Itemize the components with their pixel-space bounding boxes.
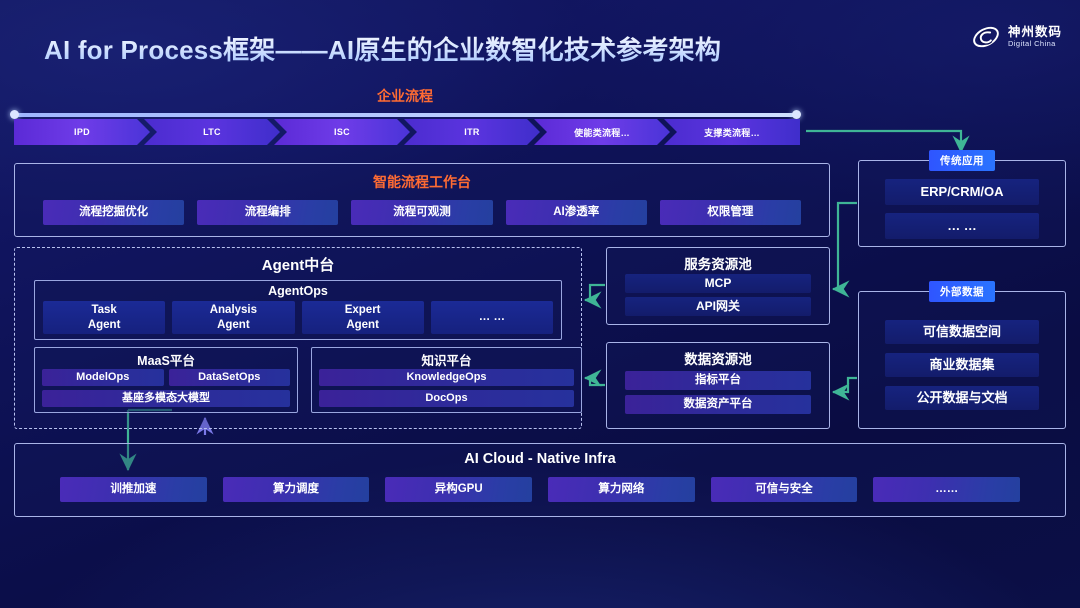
data-pool-item[interactable]: 数据资产平台 [625, 395, 811, 414]
maas-item[interactable]: 基座多模态大模型 [42, 390, 290, 407]
process-stage[interactable]: ISC [274, 119, 410, 145]
infra-item[interactable]: 可信与安全 [711, 477, 858, 502]
external-data-item[interactable]: 公开数据与文档 [885, 386, 1039, 410]
data-resource-pool-panel: 数据资源池 指标平台 数据资产平台 [606, 342, 830, 429]
maas-row-1: ModelOps DataSetOps [42, 369, 290, 386]
infra-title: AI Cloud - Native Infra [15, 451, 1065, 467]
maas-platform-panel: MaaS平台 ModelOps DataSetOps 基座多模态大模型 [34, 347, 298, 413]
external-data-item[interactable]: 可信数据空间 [885, 320, 1039, 344]
workbench-item[interactable]: 流程挖掘优化 [43, 200, 184, 225]
maas-title: MaaS平台 [35, 350, 297, 369]
external-data-item[interactable]: 商业数据集 [885, 353, 1039, 377]
workbench-item[interactable]: 流程编排 [197, 200, 338, 225]
process-stage[interactable]: 使能类流程… [534, 119, 670, 145]
maas-item[interactable]: DataSetOps [169, 369, 291, 386]
infra-item[interactable]: 异构GPU [385, 477, 532, 502]
agentops-item[interactable]: … … [431, 301, 553, 334]
maas-item[interactable]: ModelOps [42, 369, 164, 386]
workbench-item-row: 流程挖掘优化 流程编排 流程可观测 AI渗透率 权限管理 [43, 200, 801, 225]
logo-text-en: Digital China [1008, 40, 1062, 48]
data-pool-list: 指标平台 数据资产平台 [625, 371, 811, 414]
agentops-item[interactable]: Analysis Agent [172, 301, 294, 334]
traditional-apps-item[interactable]: ERP/CRM/OA [885, 179, 1039, 205]
workbench-item[interactable]: 权限管理 [660, 200, 801, 225]
process-rail-dot-right [792, 110, 801, 119]
swirl-logo-icon [971, 22, 1001, 52]
agent-hub-title: Agent中台 [15, 254, 581, 275]
process-rail-dot-left [10, 110, 19, 119]
knowledge-row-2: DocOps [319, 390, 574, 407]
process-rail [14, 113, 800, 117]
process-stage-bar: IPD LTC ISC ITR 使能类流程… 支撑类流程… [14, 119, 800, 145]
knowledge-title: 知识平台 [312, 350, 581, 369]
traditional-apps-item[interactable]: … … [885, 213, 1039, 239]
external-data-tag: 外部数据 [929, 281, 995, 302]
process-stage[interactable]: ITR [404, 119, 540, 145]
agentops-item-row: Task Agent Analysis Agent Expert Agent …… [43, 301, 553, 334]
workbench-item[interactable]: 流程可观测 [351, 200, 492, 225]
traditional-apps-list: ERP/CRM/OA … … [885, 179, 1039, 239]
service-pool-item[interactable]: MCP [625, 274, 811, 293]
traditional-apps-tag: 传统应用 [929, 150, 995, 171]
agent-hub-panel: Agent中台 AgentOps Task Agent Analysis Age… [14, 247, 582, 429]
knowledge-row-1: KnowledgeOps [319, 369, 574, 386]
agentops-item[interactable]: Expert Agent [302, 301, 424, 334]
data-pool-item[interactable]: 指标平台 [625, 371, 811, 390]
agentops-item[interactable]: Task Agent [43, 301, 165, 334]
logo-text-cn: 神州数码 [1008, 26, 1062, 39]
workbench-title: 智能流程工作台 [15, 172, 829, 192]
brand-logo: 神州数码 Digital China [971, 22, 1062, 52]
infra-item[interactable]: 训推加速 [60, 477, 207, 502]
process-stage[interactable]: IPD [14, 119, 150, 145]
infra-item-row: 训推加速 算力调度 异构GPU 算力网络 可信与安全 …… [60, 477, 1020, 502]
ai-cloud-native-infra-panel: AI Cloud - Native Infra 训推加速 算力调度 异构GPU … [14, 443, 1066, 517]
process-stage[interactable]: LTC [144, 119, 280, 145]
external-data-panel: 外部数据 可信数据空间 商业数据集 公开数据与文档 [858, 291, 1066, 429]
workbench-item[interactable]: AI渗透率 [506, 200, 647, 225]
infra-item[interactable]: 算力调度 [223, 477, 370, 502]
service-pool-title: 服务资源池 [607, 253, 829, 273]
external-data-list: 可信数据空间 商业数据集 公开数据与文档 [885, 320, 1039, 410]
maas-row-2: 基座多模态大模型 [42, 390, 290, 407]
knowledge-platform-panel: 知识平台 KnowledgeOps DocOps [311, 347, 582, 413]
infra-item[interactable]: …… [873, 477, 1020, 502]
intelligent-process-workbench-panel: 智能流程工作台 流程挖掘优化 流程编排 流程可观测 AI渗透率 权限管理 [14, 163, 830, 237]
infra-item[interactable]: 算力网络 [548, 477, 695, 502]
service-pool-item[interactable]: API网关 [625, 297, 811, 316]
process-stage[interactable]: 支撑类流程… [664, 119, 800, 145]
traditional-apps-panel: 传统应用 ERP/CRM/OA … … [858, 160, 1066, 247]
service-resource-pool-panel: 服务资源池 MCP API网关 [606, 247, 830, 325]
slide-canvas: AI for Process框架——AI原生的企业数智化技术参考架构 神州数码 … [0, 0, 1080, 608]
agentops-panel: AgentOps Task Agent Analysis Agent Exper… [34, 280, 562, 340]
process-section-label: 企业流程 [0, 86, 1080, 106]
service-pool-list: MCP API网关 [625, 274, 811, 316]
knowledge-item[interactable]: DocOps [319, 390, 574, 407]
page-title: AI for Process框架——AI原生的企业数智化技术参考架构 [44, 30, 721, 67]
knowledge-item[interactable]: KnowledgeOps [319, 369, 574, 386]
data-pool-title: 数据资源池 [607, 348, 829, 368]
agentops-title: AgentOps [35, 284, 561, 298]
